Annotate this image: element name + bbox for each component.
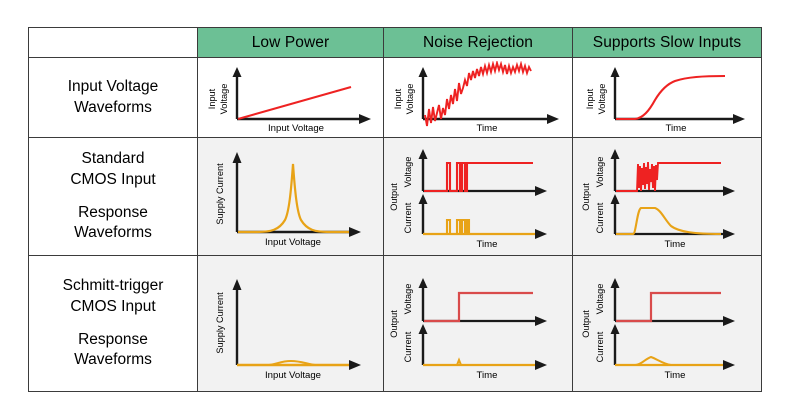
row-label-line-2: CMOS Input	[29, 170, 197, 190]
yaxis-arrow-voltage	[419, 278, 428, 288]
yaxis-arrow-voltage	[611, 149, 620, 159]
yaxis-arrow-voltage	[419, 149, 428, 159]
chart-r3c1-schmitt-supply-current: Supply Current Input Voltage	[201, 265, 381, 383]
series-noisy-input	[425, 63, 531, 126]
chart-cell-standard-supply-current: Supply Current Input Voltage	[198, 138, 384, 256]
yaxis-label-supply-current: Supply Current	[215, 291, 225, 353]
column-header-noise-rejection: Noise Rejection	[384, 28, 573, 58]
row-label-input-voltage-waveforms: Input Voltage Waveforms	[29, 58, 198, 138]
chart-r2c1-standard-supply-current: Supply Current Input Voltage	[201, 144, 381, 250]
yaxis-arrow	[232, 279, 241, 290]
row-label-standard-cmos-input: Standard CMOS Input Response Waveforms	[29, 138, 198, 256]
xaxis-label-time: Time	[477, 239, 498, 250]
xaxis-label-input-voltage: Input Voltage	[264, 237, 320, 248]
row-label-line-4: Waveforms	[29, 223, 197, 243]
xaxis-label-input-voltage: Input Voltage	[267, 123, 323, 134]
series-output-voltage-clean-step	[424, 293, 533, 321]
yaxis-label-current: Current	[403, 331, 413, 362]
chart-r2c3-standard-slow-input-output: Output Voltage Current Time	[579, 144, 755, 250]
column-header-supports-slow-inputs: Supports Slow Inputs	[573, 28, 762, 58]
table-header-row: Low Power Noise Rejection Supports Slow …	[29, 28, 762, 58]
yaxis-arrow-current	[611, 194, 620, 204]
xaxis-arrow-voltage	[723, 316, 735, 326]
chart-cell-noisy-input: Input Voltage Time	[384, 58, 573, 138]
xaxis-arrow-current	[535, 360, 547, 370]
yaxis-arrow	[232, 152, 241, 163]
xaxis-arrow-voltage	[535, 186, 547, 196]
series-supply-current-peak	[238, 164, 349, 232]
row-label-line-4: Waveforms	[29, 350, 197, 370]
xaxis-label-time: Time	[665, 370, 686, 381]
chart-cell-input-ramp: Input Voltage Input Voltage	[198, 58, 384, 138]
xaxis-label-input-voltage: Input Voltage	[264, 370, 320, 381]
yaxis-label-voltage: Voltage	[597, 83, 607, 114]
xaxis-arrow	[547, 114, 559, 124]
series-output-current-blip	[424, 360, 533, 365]
row-label-line-1: Schmitt-trigger	[29, 276, 197, 296]
yaxis-label-input: Input	[585, 88, 595, 109]
chart-cell-standard-noise-output: Output Voltage Current Time	[384, 138, 573, 256]
chart-cell-schmitt-noise-output: Output Voltage Current Time	[384, 256, 573, 392]
xaxis-arrow-current	[723, 229, 735, 239]
yaxis-label-voltage: Voltage	[595, 283, 605, 314]
xaxis-arrow	[359, 114, 371, 124]
series-output-current-bump	[616, 357, 721, 365]
xaxis-arrow-voltage	[535, 316, 547, 326]
series-input-ramp	[238, 87, 351, 119]
row-label-line-1: Standard	[29, 149, 197, 169]
yaxis-label-input: Input	[207, 88, 217, 109]
xaxis-label-time: Time	[477, 123, 498, 134]
xaxis-label-time: Time	[666, 123, 687, 134]
row-label-spacer	[29, 190, 197, 203]
yaxis-label-output: Output	[581, 309, 591, 337]
xaxis-arrow-voltage	[723, 186, 735, 196]
yaxis-label-current: Current	[595, 331, 605, 362]
yaxis-label-output: Output	[389, 309, 399, 337]
series-output-voltage-glitches	[424, 163, 533, 191]
row-label-line-1: Input Voltage	[29, 77, 197, 97]
xaxis-label-time: Time	[665, 239, 686, 250]
chart-r1c2-noisy-rising-input: Input Voltage Time	[387, 61, 569, 135]
series-output-current-hump	[616, 208, 721, 234]
chart-r3c3-schmitt-slow-input-output: Output Voltage Current Time	[579, 265, 755, 383]
yaxis-label-voltage: Voltage	[219, 83, 229, 114]
yaxis-label-voltage: Voltage	[403, 156, 413, 187]
chart-cell-standard-slow-output: Output Voltage Current Time	[573, 138, 762, 256]
series-output-voltage-chatter	[616, 162, 721, 191]
yaxis-arrow	[419, 67, 428, 77]
yaxis-label-voltage: Voltage	[403, 283, 413, 314]
yaxis-label-supply-current: Supply Current	[215, 162, 225, 224]
row-label-schmitt-trigger-cmos-input: Schmitt-trigger CMOS Input Response Wave…	[29, 256, 198, 392]
yaxis-arrow-current	[419, 194, 428, 204]
row-label-line-3: Response	[29, 203, 197, 223]
yaxis-label-voltage: Voltage	[595, 156, 605, 187]
xaxis-arrow-current	[723, 360, 735, 370]
chart-cell-schmitt-supply-current: Supply Current Input Voltage	[198, 256, 384, 392]
chart-cell-slow-input: Input Voltage Time	[573, 58, 762, 138]
xaxis-arrow	[349, 227, 361, 237]
yaxis-label-output: Output	[581, 182, 591, 210]
yaxis-arrow-current	[611, 324, 620, 334]
waveform-comparison-figure: Low Power Noise Rejection Supports Slow …	[0, 0, 785, 407]
table-row: Input Voltage Waveforms Input Voltage In…	[29, 58, 762, 138]
xaxis-label-time: Time	[477, 370, 498, 381]
yaxis-arrow	[611, 67, 620, 77]
chart-r1c3-slow-ramp-input: Input Voltage Time	[579, 61, 755, 135]
xaxis-arrow	[349, 360, 361, 370]
table-row: Schmitt-trigger CMOS Input Response Wave…	[29, 256, 762, 392]
chart-r2c2-standard-noise-output: Output Voltage Current Time	[387, 144, 569, 250]
column-header-low-power: Low Power	[198, 28, 384, 58]
table-corner-cell	[29, 28, 198, 58]
yaxis-label-current: Current	[403, 202, 413, 233]
row-label-line-3: Response	[29, 330, 197, 350]
chart-cell-schmitt-slow-output: Output Voltage Current Time	[573, 256, 762, 392]
series-output-voltage-clean-step	[616, 293, 721, 321]
xaxis-arrow	[733, 114, 745, 124]
yaxis-label-current: Current	[595, 202, 605, 233]
table-row: Standard CMOS Input Response Waveforms S…	[29, 138, 762, 256]
yaxis-arrow-current	[419, 324, 428, 334]
comparison-table: Low Power Noise Rejection Supports Slow …	[28, 27, 762, 392]
row-label-line-2: CMOS Input	[29, 297, 197, 317]
yaxis-arrow-voltage	[611, 278, 620, 288]
yaxis-label-input: Input	[393, 88, 403, 109]
series-output-current-spikes	[424, 220, 533, 234]
xaxis-arrow-current	[535, 229, 547, 239]
chart-r1c1-input-ramp: Input Voltage Input Voltage	[201, 61, 381, 135]
yaxis-arrow	[232, 67, 241, 77]
row-label-line-2: Waveforms	[29, 98, 197, 118]
row-label-spacer	[29, 317, 197, 330]
yaxis-label-voltage: Voltage	[405, 83, 415, 114]
series-slow-input	[616, 76, 725, 119]
chart-r3c2-schmitt-noise-output: Output Voltage Current Time	[387, 265, 569, 383]
yaxis-label-output: Output	[389, 182, 399, 210]
